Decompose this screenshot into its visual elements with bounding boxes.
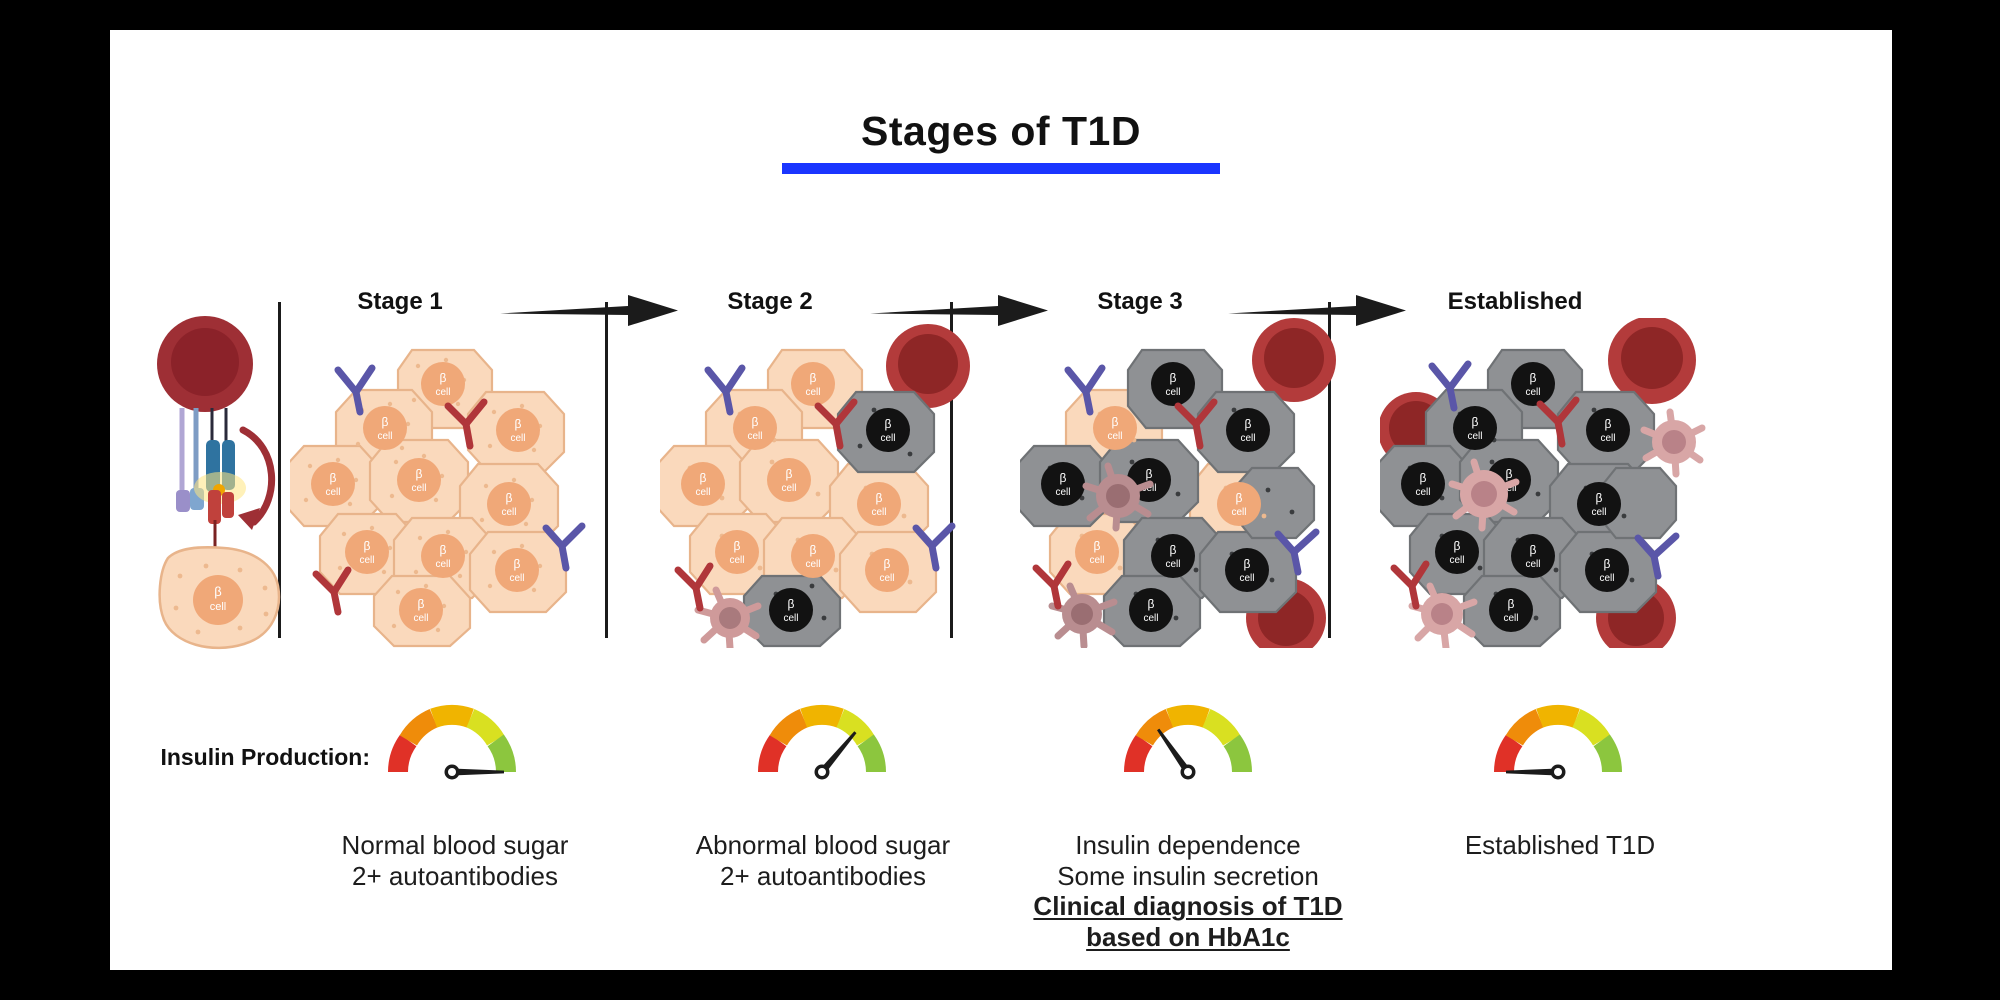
svg-text:cell: cell — [509, 573, 524, 584]
caption-line: Some insulin secretion — [988, 861, 1388, 892]
svg-text:β: β — [1530, 543, 1537, 557]
svg-text:β: β — [514, 557, 521, 571]
svg-text:β: β — [1170, 371, 1177, 385]
stage-label-stage-1: Stage 1 — [300, 288, 500, 316]
svg-text:cell: cell — [501, 507, 516, 518]
svg-text:β: β — [752, 415, 759, 429]
svg-text:cell: cell — [1055, 487, 1070, 498]
svg-text:cell: cell — [880, 433, 895, 444]
svg-text:cell: cell — [1107, 431, 1122, 442]
caption-line: Insulin dependence — [988, 830, 1388, 861]
svg-text:cell: cell — [1240, 433, 1255, 444]
svg-text:β: β — [1472, 415, 1479, 429]
svg-text:cell: cell — [435, 387, 450, 398]
svg-text:cell: cell — [805, 559, 820, 570]
caption-line-emphasis: based on HbA1c — [988, 922, 1388, 953]
svg-text:β: β — [515, 417, 522, 431]
caption-line: 2+ autoantibodies — [623, 861, 1023, 892]
svg-text:β: β — [1604, 557, 1611, 571]
svg-text:cell: cell — [1239, 573, 1254, 584]
svg-text:β: β — [382, 415, 389, 429]
svg-text:β: β — [884, 557, 891, 571]
svg-text:cell: cell — [1525, 387, 1540, 398]
caption-stage-1: Normal blood sugar 2+ autoantibodies — [255, 830, 655, 891]
svg-text:β: β — [1420, 471, 1427, 485]
caption-line: Abnormal blood sugar — [623, 830, 1023, 861]
page-title: Stages of T1D — [110, 108, 1892, 155]
caption-established: Established T1D — [1360, 830, 1760, 861]
caption-stage-2: Abnormal blood sugar 2+ autoantibodies — [623, 830, 1023, 891]
svg-text:cell: cell — [783, 613, 798, 624]
stage-label-stage-3: Stage 3 — [1040, 288, 1240, 316]
svg-text:cell: cell — [879, 573, 894, 584]
svg-text:β: β — [885, 417, 892, 431]
svg-text:cell: cell — [1143, 613, 1158, 624]
svg-text:β: β — [1605, 417, 1612, 431]
svg-text:cell: cell — [1165, 387, 1180, 398]
svg-text:β: β — [1094, 539, 1101, 553]
svg-text:β: β — [1170, 543, 1177, 557]
svg-text:cell: cell — [1449, 555, 1464, 566]
svg-text:β: β — [1148, 597, 1155, 611]
slide-canvas: Stages of T1D Stage 1 Stage 2 Stage 3 Es… — [110, 30, 1892, 970]
insulin-production-gauge-stage-2 — [752, 690, 892, 790]
title-block: Stages of T1D — [110, 108, 1892, 174]
svg-text:β: β — [418, 597, 425, 611]
svg-text:cell: cell — [1599, 573, 1614, 584]
svg-text:cell: cell — [695, 487, 710, 498]
svg-text:β: β — [1112, 415, 1119, 429]
svg-text:cell: cell — [1089, 555, 1104, 566]
svg-text:β: β — [1146, 467, 1153, 481]
svg-text:β: β — [1245, 417, 1252, 431]
svg-text:β: β — [416, 467, 423, 481]
svg-text:cell: cell — [747, 431, 762, 442]
svg-text:β: β — [1244, 557, 1251, 571]
stage-label-established: Established — [1400, 288, 1630, 316]
svg-text:cell: cell — [1415, 487, 1430, 498]
svg-text:cell: cell — [1165, 559, 1180, 570]
svg-text:β: β — [1060, 471, 1067, 485]
svg-text:cell: cell — [359, 555, 374, 566]
svg-text:cell: cell — [1503, 613, 1518, 624]
svg-text:β: β — [440, 543, 447, 557]
svg-text:β: β — [364, 539, 371, 553]
svg-text:cell: cell — [210, 601, 227, 613]
svg-text:cell: cell — [1591, 507, 1606, 518]
islet-cluster-stage-1: βcell βcell βcell βcell βcell βcell βcel… — [290, 318, 620, 648]
svg-text:β: β — [734, 539, 741, 553]
title-underline-rule — [782, 163, 1220, 174]
svg-text:β: β — [810, 543, 817, 557]
svg-text:β: β — [786, 467, 793, 481]
svg-text:cell: cell — [325, 487, 340, 498]
svg-text:cell: cell — [1600, 433, 1615, 444]
svg-text:β: β — [330, 471, 337, 485]
svg-text:β: β — [700, 471, 707, 485]
svg-text:β: β — [810, 371, 817, 385]
svg-text:cell: cell — [1231, 507, 1246, 518]
islet-cluster-stage-2: βcell βcell βcell βcell βcell βcell βcel… — [660, 318, 990, 648]
svg-text:cell: cell — [510, 433, 525, 444]
svg-text:β: β — [1236, 491, 1243, 505]
svg-text:β: β — [1596, 491, 1603, 505]
svg-text:β: β — [214, 584, 221, 599]
svg-text:β: β — [876, 491, 883, 505]
svg-text:cell: cell — [1525, 559, 1540, 570]
svg-text:cell: cell — [805, 387, 820, 398]
islet-cluster-established: βcell βcell βcell βcell βcell βcell βcel… — [1380, 318, 1710, 648]
svg-text:cell: cell — [1467, 431, 1482, 442]
insulin-production-gauge-established — [1488, 690, 1628, 790]
svg-text:β: β — [788, 597, 795, 611]
caption-stage-3: Insulin dependence Some insulin secretio… — [988, 830, 1388, 953]
insulin-production-label: Insulin Production: — [130, 744, 370, 771]
svg-text:cell: cell — [871, 507, 886, 518]
svg-text:cell: cell — [377, 431, 392, 442]
svg-text:cell: cell — [781, 483, 796, 494]
insulin-production-gauge-stage-3 — [1118, 690, 1258, 790]
svg-text:β: β — [1454, 539, 1461, 553]
caption-line-emphasis: Clinical diagnosis of T1D — [988, 891, 1388, 922]
svg-text:β: β — [1508, 597, 1515, 611]
svg-text:β: β — [1506, 467, 1513, 481]
svg-text:cell: cell — [413, 613, 428, 624]
svg-text:cell: cell — [411, 483, 426, 494]
svg-text:cell: cell — [729, 555, 744, 566]
svg-text:cell: cell — [435, 559, 450, 570]
insulin-production-gauge-stage-1 — [382, 690, 522, 790]
svg-text:β: β — [506, 491, 513, 505]
svg-text:β: β — [1530, 371, 1537, 385]
caption-line: 2+ autoantibodies — [255, 861, 655, 892]
islet-cluster-stage-3: βcell βcell βcell βcell βcell βcell βcel… — [1020, 318, 1350, 648]
caption-line: Normal blood sugar — [255, 830, 655, 861]
svg-text:β: β — [440, 371, 447, 385]
stage-label-stage-2: Stage 2 — [670, 288, 870, 316]
caption-line: Established T1D — [1360, 830, 1760, 861]
